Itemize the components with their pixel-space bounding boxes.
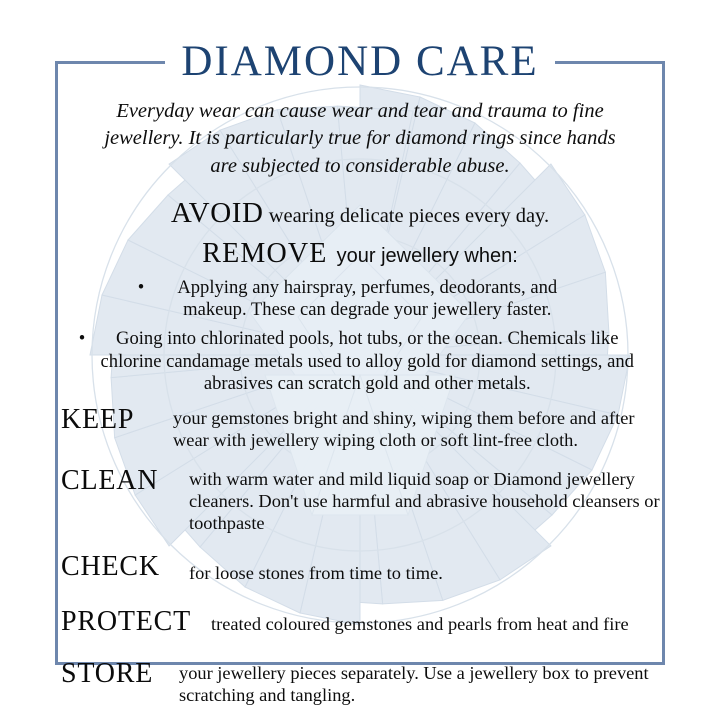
care-row-clean: CLEAN with warm water and mild liquid so… bbox=[55, 465, 665, 534]
store-text: your jewellery pieces separately. Use a … bbox=[179, 658, 665, 706]
page-title: DIAMOND CARE bbox=[165, 40, 554, 83]
list-item: • Applying any hairspray, perfumes, deod… bbox=[77, 277, 643, 322]
care-row-store: STORE your jewellery pieces separately. … bbox=[55, 658, 665, 706]
protect-text: treated coloured gemstones and pearls fr… bbox=[211, 606, 665, 635]
list-item: • Going into chlorinated pools, hot tubs… bbox=[77, 328, 643, 396]
care-row-protect: PROTECT treated coloured gemstones and p… bbox=[55, 606, 665, 636]
store-keyword: STORE bbox=[61, 658, 179, 688]
clean-text: with warm water and mild liquid soap or … bbox=[189, 465, 665, 534]
avoid-line: AVOID wearing delicate pieces every day. bbox=[55, 197, 665, 230]
protect-keyword: PROTECT bbox=[61, 606, 211, 636]
list-item-text: Applying any hairspray, perfumes, deodor… bbox=[152, 277, 582, 322]
remove-bullet-list: • Applying any hairspray, perfumes, deod… bbox=[77, 277, 643, 396]
care-row-keep: KEEP your gemstones bright and shiny, wi… bbox=[55, 404, 665, 451]
keep-text: your gemstones bright and shiny, wiping … bbox=[173, 404, 665, 451]
bullet-marker-icon: • bbox=[79, 328, 86, 351]
bullet-marker-icon: • bbox=[138, 277, 145, 300]
check-keyword: CHECK bbox=[61, 553, 189, 581]
avoid-text: wearing delicate pieces every day. bbox=[269, 205, 549, 227]
avoid-keyword: AVOID bbox=[171, 197, 264, 229]
diamond-care-poster: DIAMOND CARE Everyday wear can cause wea… bbox=[0, 0, 720, 720]
page-title-wrap: DIAMOND CARE bbox=[55, 40, 665, 86]
intro-paragraph: Everyday wear can cause wear and tear an… bbox=[89, 98, 631, 180]
remove-text: your jewellery when: bbox=[337, 245, 518, 267]
poster-content: DIAMOND CARE Everyday wear can cause wea… bbox=[55, 40, 665, 706]
check-text: for loose stones from time to time. bbox=[189, 553, 665, 584]
clean-keyword: CLEAN bbox=[61, 465, 189, 495]
remove-keyword: REMOVE bbox=[202, 238, 327, 269]
list-item-text: Going into chlorinated pools, hot tubs, … bbox=[93, 328, 641, 396]
keep-keyword: KEEP bbox=[61, 404, 173, 434]
care-row-check: CHECK for loose stones from time to time… bbox=[55, 553, 665, 584]
remove-line: REMOVEyour jewellery when: bbox=[55, 238, 665, 270]
care-instruction-rows: KEEP your gemstones bright and shiny, wi… bbox=[55, 404, 665, 706]
